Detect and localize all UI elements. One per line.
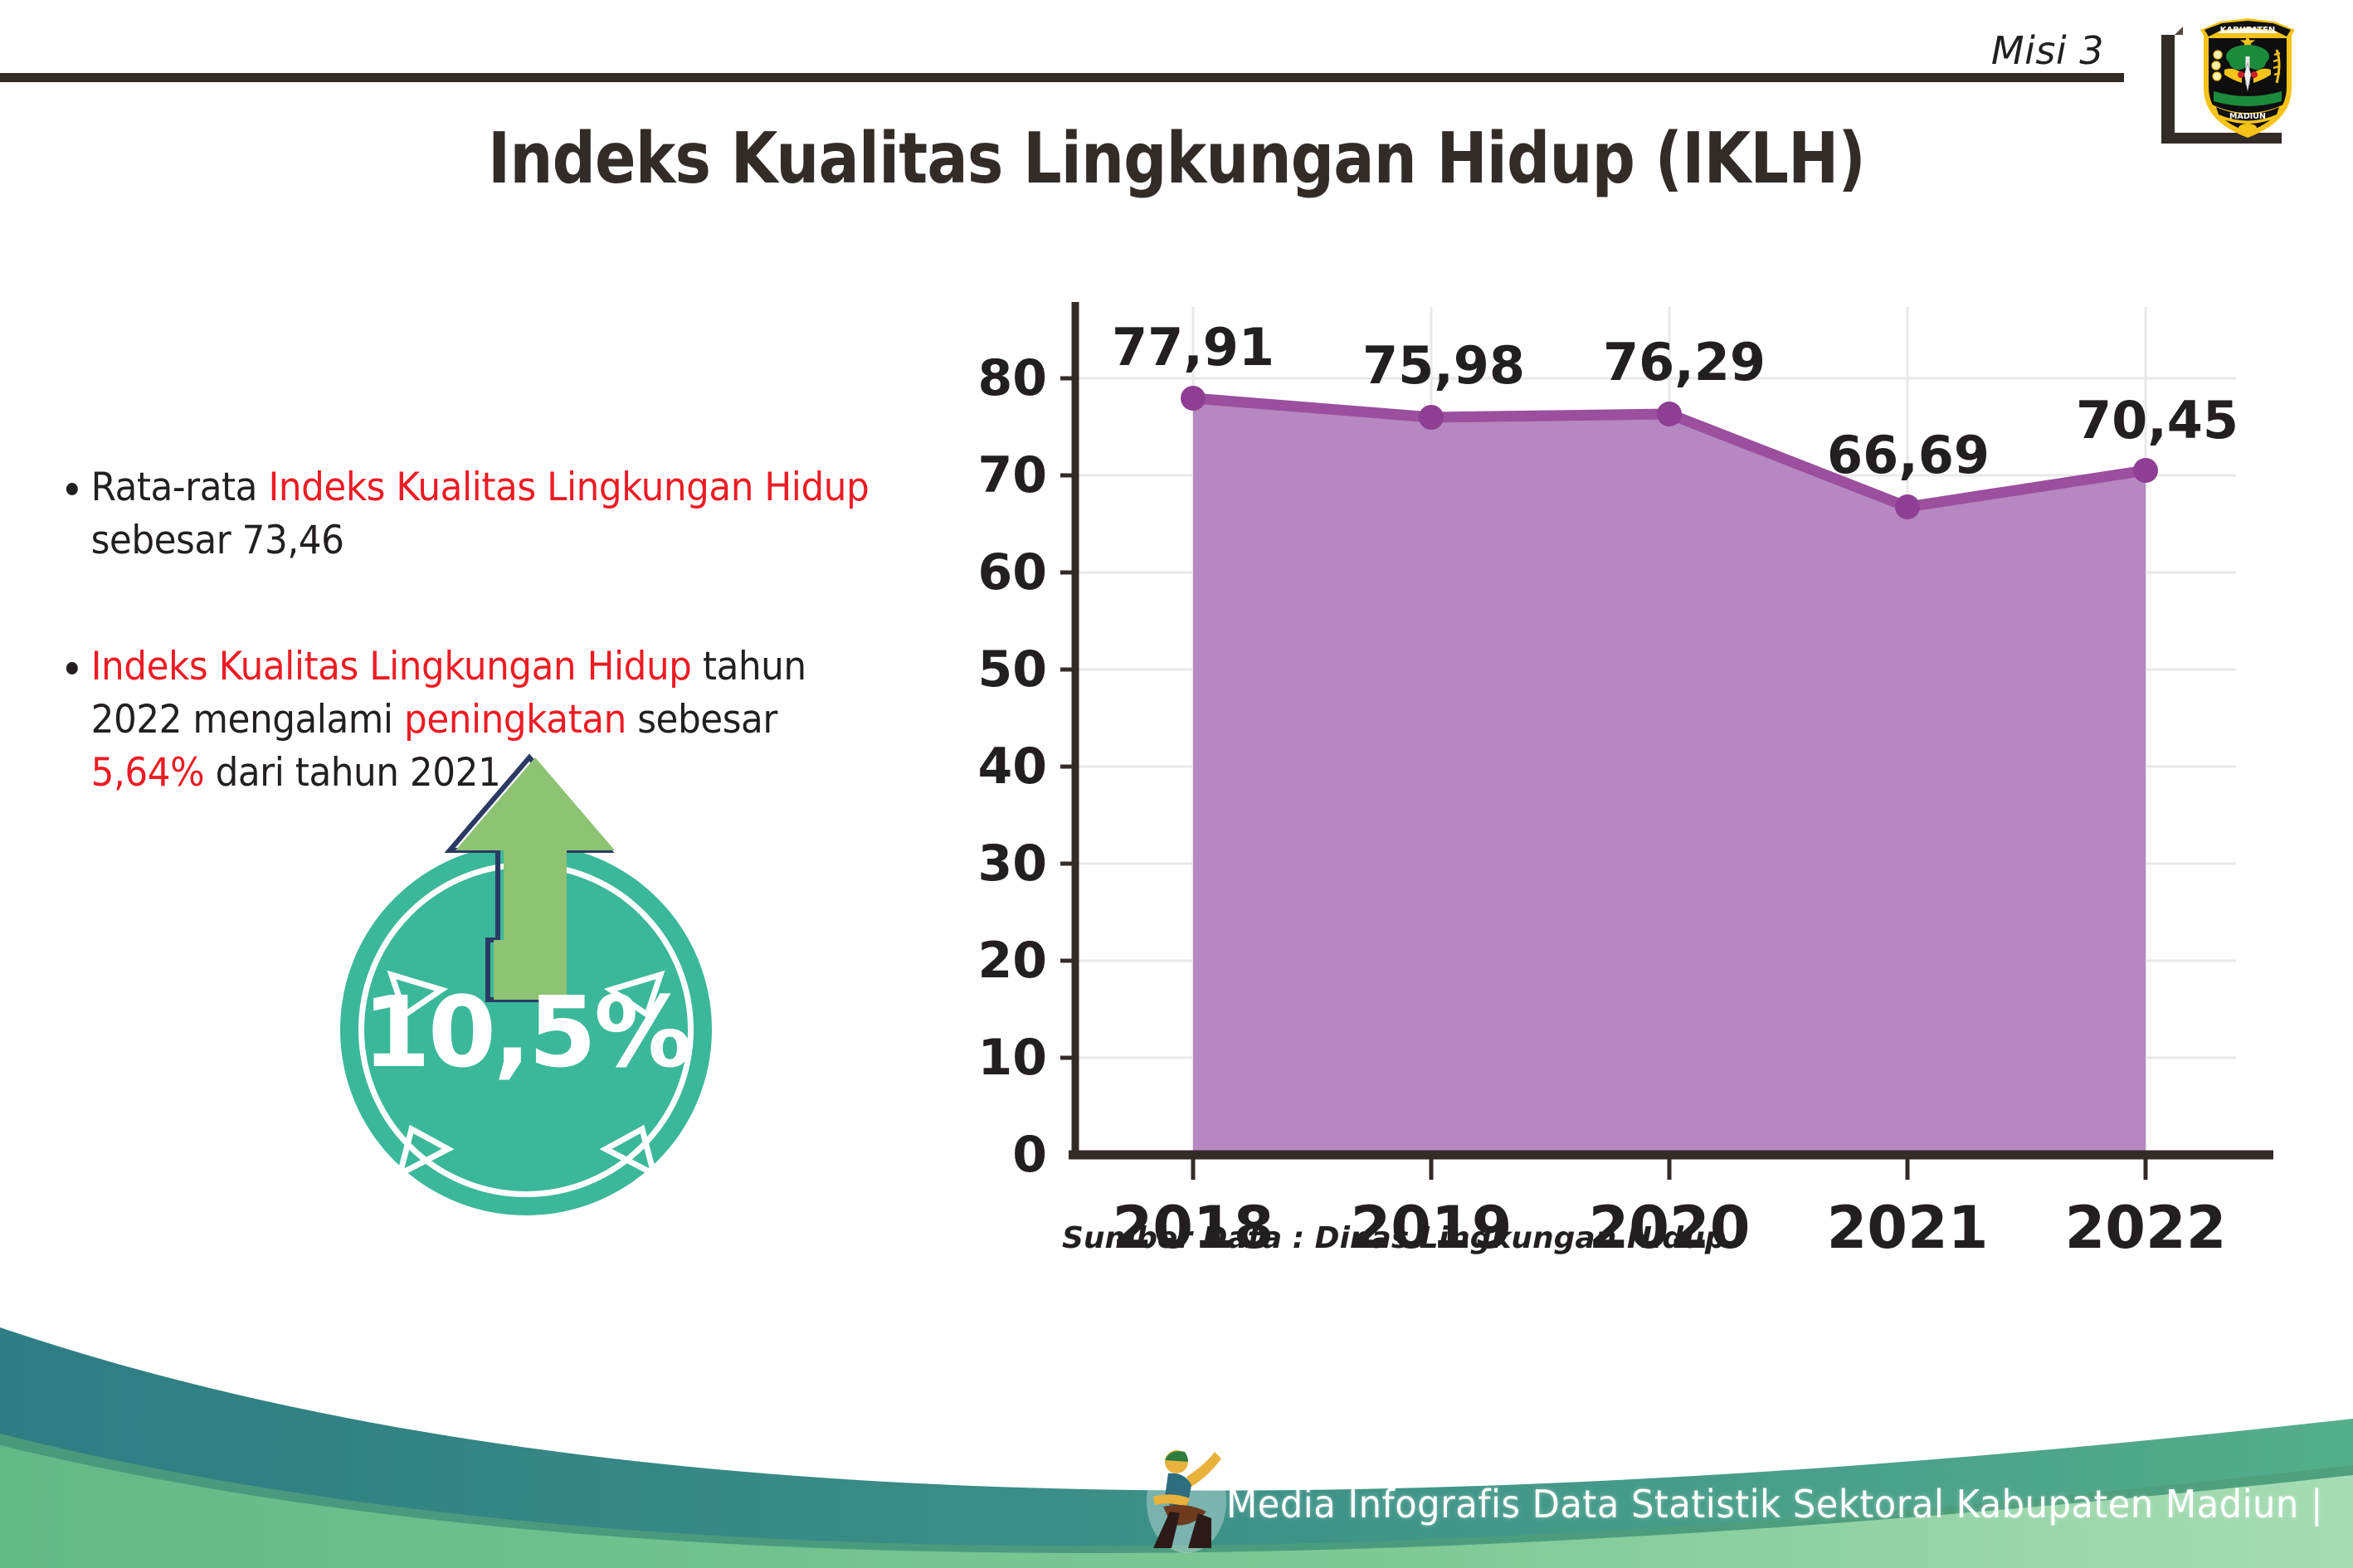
- chart-source-caption: Sumber Data : Dinas Lingkungan Hidup: [1062, 1221, 1727, 1255]
- bullet-segment-highlight: 5,64%: [91, 750, 205, 796]
- bullet-segment-highlight: Indeks Kualitas Lingkungan Hidup: [268, 465, 869, 510]
- badge-percentage-value: 10,5%: [340, 975, 712, 1089]
- svg-text:70: 70: [978, 446, 1048, 504]
- svg-text:2022: 2022: [2065, 1194, 2227, 1261]
- svg-text:30: 30: [978, 835, 1048, 893]
- bullet-segment-highlight: Indeks Kualitas Lingkungan Hidup: [91, 644, 692, 689]
- bullet-segment: sebesar: [626, 697, 777, 743]
- bullet-segment: sebesar 73,46: [91, 518, 344, 563]
- header-divider-rule: [0, 73, 2124, 82]
- chart-canvas: 0 10 20 30 40 50 60 70 80 2018 2019 2020…: [954, 282, 2282, 1261]
- bullet-list: Rata-rata Indeks Kualitas Lingkungan Hid…: [65, 461, 961, 800]
- bullet-segment-highlight: peningkatan: [404, 697, 626, 743]
- svg-text:60: 60: [978, 543, 1048, 601]
- svg-text:77,91: 77,91: [1112, 317, 1274, 377]
- svg-text:76,29: 76,29: [1603, 332, 1766, 392]
- percentage-badge: 10,5%: [324, 751, 755, 1215]
- svg-text:2021: 2021: [1827, 1194, 1989, 1261]
- svg-text:20: 20: [978, 932, 1048, 990]
- iklh-area-chart: 0 10 20 30 40 50 60 70 80 2018 2019 2020…: [954, 282, 2282, 1261]
- svg-text:75,98: 75,98: [1362, 335, 1525, 396]
- infographic-page: Misi 3 KABUPATEN: [0, 0, 2353, 1568]
- bullet-segment: Rata-rata: [91, 465, 269, 510]
- dancer-figure-logo-icon: [1143, 1444, 1230, 1553]
- misi-label: Misi 3: [1991, 28, 2104, 73]
- svg-text:70,45: 70,45: [2076, 390, 2239, 450]
- svg-text:80: 80: [978, 349, 1048, 407]
- svg-text:40: 40: [978, 738, 1048, 796]
- kabupaten-madiun-crest-icon: KABUPATEN: [2195, 12, 2300, 144]
- svg-text:50: 50: [978, 640, 1048, 699]
- crest-bottom-text: MADIUN: [2229, 112, 2266, 121]
- list-item: Rata-rata Indeks Kualitas Lingkungan Hid…: [65, 461, 898, 567]
- svg-text:10: 10: [978, 1029, 1048, 1087]
- page-title: Indeks Kualitas Lingkungan Hidup (IKLH): [165, 118, 2189, 200]
- svg-text:0: 0: [1012, 1126, 1047, 1184]
- chart-y-tick-labels: 0 10 20 30 40 50 60 70 80: [978, 349, 1048, 1184]
- svg-text:66,69: 66,69: [1827, 425, 1990, 485]
- chart-area-fill: [1193, 398, 2146, 1155]
- footer-caption: Media Infografis Data Statistik Sektoral…: [1226, 1482, 2323, 1527]
- crest-top-text: KABUPATEN: [2220, 26, 2276, 35]
